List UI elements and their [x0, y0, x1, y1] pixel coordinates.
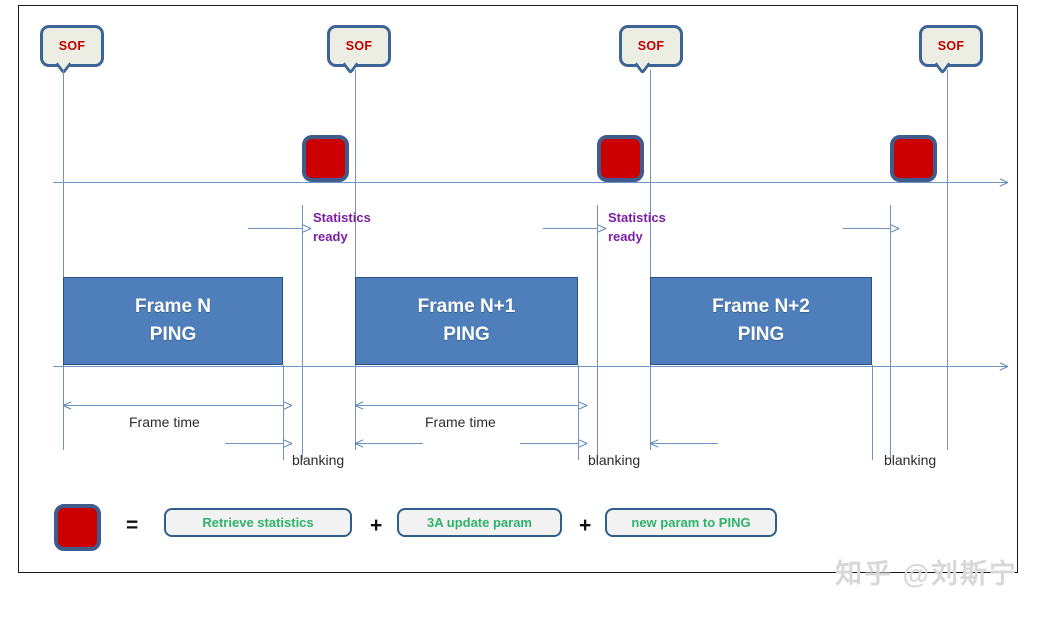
sof-timeline-3: [650, 70, 651, 450]
legend-equals-sign: =: [126, 514, 138, 538]
frame-title: Frame N+2: [712, 293, 810, 322]
legend-chip-label: 3A update param: [427, 515, 532, 530]
legend-event-swatch: [54, 504, 101, 551]
frame-end-line-2: [597, 205, 598, 460]
legend-chip-label: Retrieve statistics: [202, 515, 313, 530]
watermark: 知乎 @刘斯宁: [835, 552, 1018, 591]
statistics-event-1: [302, 135, 349, 182]
frame-subtitle: PING: [738, 321, 784, 350]
statistics-event-2: [597, 135, 644, 182]
blanking-label-1: blanking: [292, 452, 344, 468]
frame-block-1: Frame N PING: [63, 277, 283, 365]
frame-time-label-1: Frame time: [129, 414, 200, 430]
frame-title: Frame N+1: [418, 293, 516, 322]
frame-end-line-3: [890, 205, 891, 460]
statistics-ready-label-1: Statistics ready: [313, 209, 371, 247]
sof-label: SOF: [638, 39, 665, 53]
sof-callout-3: SOF: [619, 25, 683, 67]
blanking-leader-right-1: [355, 443, 423, 444]
legend-chip-retrieve-statistics: Retrieve statistics: [164, 508, 352, 537]
frame-subtitle: PING: [443, 321, 489, 350]
blanking-label-2: blanking: [588, 452, 640, 468]
legend-chip-new-param-to-ping: new param to PING: [605, 508, 777, 537]
frame-block-2: Frame N+1 PING: [355, 277, 578, 365]
sof-timeline-1: [63, 70, 64, 450]
statistics-ready-arrow-3: [843, 228, 890, 229]
statistics-ready-label-2: Statistics ready: [608, 209, 666, 247]
frame-time-dimension-2: [355, 405, 578, 406]
event-timeline-axis: [53, 182, 1008, 183]
frame-boundary-line-3: [872, 365, 873, 460]
legend-plus-sign-2: +: [579, 514, 591, 538]
frame-subtitle: PING: [150, 321, 196, 350]
blanking-leader-left-1: [225, 443, 283, 444]
frame-baseline-axis: [53, 366, 1008, 367]
statistics-ready-arrow-2: [543, 228, 597, 229]
sof-label: SOF: [938, 39, 965, 53]
legend-chip-3a-update-param: 3A update param: [397, 508, 562, 537]
sof-label: SOF: [346, 39, 373, 53]
sof-timeline-4: [947, 70, 948, 450]
sof-timeline-2: [355, 70, 356, 450]
sof-callout-4: SOF: [919, 25, 983, 67]
blanking-leader-left-2: [520, 443, 578, 444]
legend-chip-label: new param to PING: [631, 515, 750, 530]
frame-time-label-2: Frame time: [425, 414, 496, 430]
statistics-event-3: [890, 135, 937, 182]
blanking-leader-right-2: [650, 443, 718, 444]
frame-title: Frame N: [135, 293, 211, 322]
frame-end-line-1: [302, 205, 303, 460]
sof-callout-1: SOF: [40, 25, 104, 67]
frame-time-dimension-1: [63, 405, 283, 406]
blanking-label-3: blanking: [884, 452, 936, 468]
statistics-ready-arrow-1: [248, 228, 302, 229]
frame-block-3: Frame N+2 PING: [650, 277, 872, 365]
legend-plus-sign-1: +: [370, 514, 382, 538]
sof-callout-2: SOF: [327, 25, 391, 67]
sof-label: SOF: [59, 39, 86, 53]
diagram-canvas: SOF SOF SOF SOF Statistics ready Statist…: [0, 0, 1038, 619]
